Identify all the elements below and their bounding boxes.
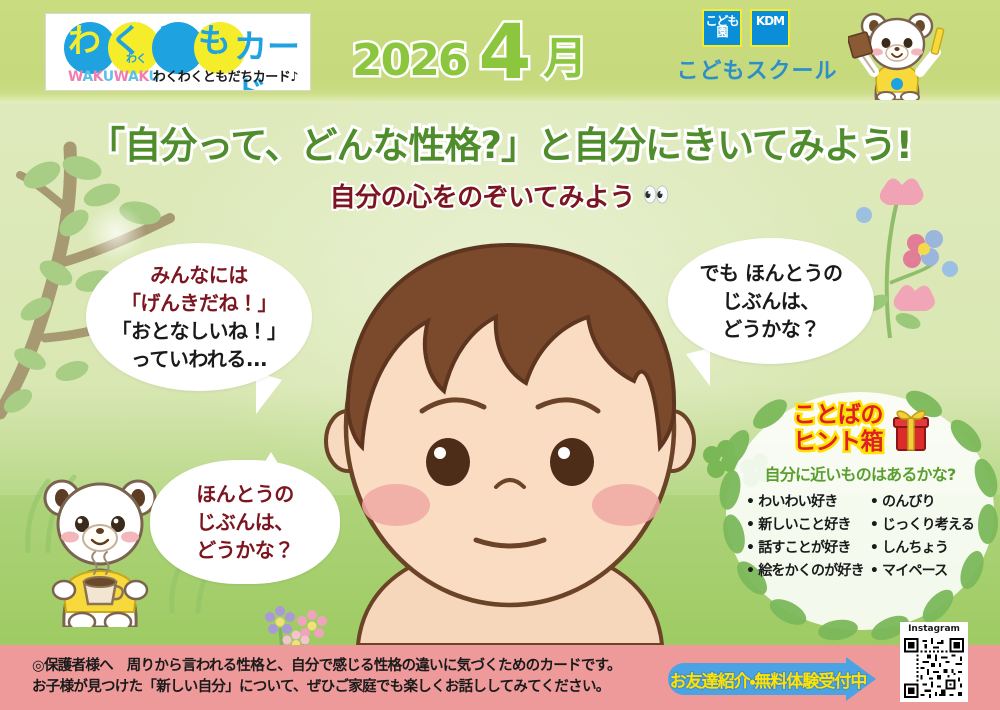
hint-column-right: のんびり じっくり考える しんちょう マイペース [870,491,974,580]
school-name: こどもスクール [672,53,842,85]
bear-mascot-illustration [34,462,166,627]
hint-item: しんちょう [870,537,974,557]
kodomoen-logo: こども園 [702,9,742,47]
brand-kana-group: わ く と も カード わく だち [58,20,302,66]
subtitle-row: 自分の心をのぞいてみよう 👀 [0,177,1000,214]
year-label: 2026 [352,32,466,90]
bubble-line: でも ほんとうの [700,259,843,287]
bubble-line: 「おとなしいね！」 [112,317,287,345]
bubble-tail-right [686,348,710,386]
cta-arrow-banner[interactable]: お友達紹介・無料体験受付中 [668,663,892,695]
brand-rubi-waku: わく [126,50,146,66]
brand-romaji: WAKUWAKU [68,69,159,85]
bubble-line: ほんとうの [196,480,294,508]
hint-title-line1: ことばの [793,402,883,429]
hint-title-row: ことばの ヒント箱 [726,402,994,456]
guardian-note-line2: お子様が見つけた「新しい自分」について、ぜひご家庭でも楽しくお話ししてみてくださ… [32,677,652,698]
hint-box-content: ことばの ヒント箱 自分に近いものはあるかな? わいわい好き 新しいこと好き 話… [726,392,994,630]
brand-logo: わ く と も カード わく だち WAKUWAKU わくわくともだちカード♪ [46,14,310,90]
bubble-line: どうかな？ [722,315,820,343]
school-branding: こども園 KDM こどもスクール [672,9,842,97]
bubble-line: みんなには [150,261,248,289]
hint-column-left: わいわい好き 新しいこと好き 話すことが好き 絵をかくのが好き [746,491,864,580]
hint-items: わいわい好き 新しいこと好き 話すことが好き 絵をかくのが好き のんびり じっく… [726,491,994,580]
hint-item: のんびり [870,491,974,511]
bubble-line: じぶんは、 [196,508,294,536]
date-display: 2026 4 月 [352,14,587,90]
eyes-icon: 👀 [643,183,670,209]
gift-box-icon [889,406,933,452]
bear-mascot-icon [848,4,958,100]
cta-label: お友達紹介・無料体験受付中 [678,663,858,695]
bubble-line: 「げんきだね！」 [121,289,277,317]
hint-item: わいわい好き [746,491,864,511]
card-canvas: みんなには 「げんきだね！」 「おとなしいね！」 っていわれる... でも ほん… [0,0,1000,710]
bubble-line: どうかな？ [196,536,294,564]
month-kanji: 月 [543,28,587,90]
hint-item: 絵をかくのが好き [746,560,864,580]
header-bar: わ く と も カード わく だち WAKUWAKU わくわくともだちカード♪ … [0,0,1000,103]
footer-bar: ◎保護者様へ 周りから言われる性格と、自分で感じる性格の違いに気づくためのカード… [0,645,1000,710]
kdm-logo: KDM [750,9,790,47]
month-number: 4 [478,14,531,90]
hint-box: ことばの ヒント箱 自分に近いものはあるかな? わいわい好き 新しいこと好き 話… [726,392,994,630]
guardian-note: ◎保護者様へ 周りから言われる性格と、自分で感じる性格の違いに気づくためのカード… [32,656,652,698]
speech-bubble-bear: ほんとうの じぶんは、 どうかな？ [150,460,340,584]
title-block: 「自分って、どんな性格?」と自分にきいてみよう! 自分の心をのぞいてみよう 👀 [0,123,1000,214]
hint-item: マイペース [870,560,974,580]
brand-tagline: わくわくともだちカード♪ [153,66,298,85]
hint-subtitle: 自分に近いものはあるかな? [726,461,994,485]
hint-item: 話すことが好き [746,537,864,557]
page-title: 「自分って、どんな性格?」と自分にきいてみよう! [0,123,1000,169]
bubble-line: じぶんは、 [722,287,820,315]
boy-character-illustration [300,215,720,645]
speech-bubble-right: でも ほんとうの じぶんは、 どうかな？ [668,238,874,364]
speech-bubble-left: みんなには 「げんきだね！」 「おとなしいね！」 っていわれる... [86,243,312,391]
qr-label: Instagram [900,622,968,634]
hint-item: じっくり考える [870,514,974,534]
hint-item: 新しいこと好き [746,514,864,534]
qr-code-icon[interactable] [900,634,968,702]
brand-rubi-dachi: だち [214,50,234,66]
bubble-line: っていわれる... [131,345,267,373]
hint-title: ことばの ヒント箱 [793,402,883,456]
hint-title-line2: ヒント箱 [793,429,883,456]
brand-kana-wa: わ [68,18,101,64]
instagram-qr-block[interactable]: Instagram [900,622,968,702]
page-subtitle: 自分の心をのぞいてみよう [330,177,635,214]
brand-kana-to: と [154,18,187,64]
guardian-note-line1: ◎保護者様へ 周りから言われる性格と、自分で感じる性格の違いに気づくためのカード… [32,656,652,677]
